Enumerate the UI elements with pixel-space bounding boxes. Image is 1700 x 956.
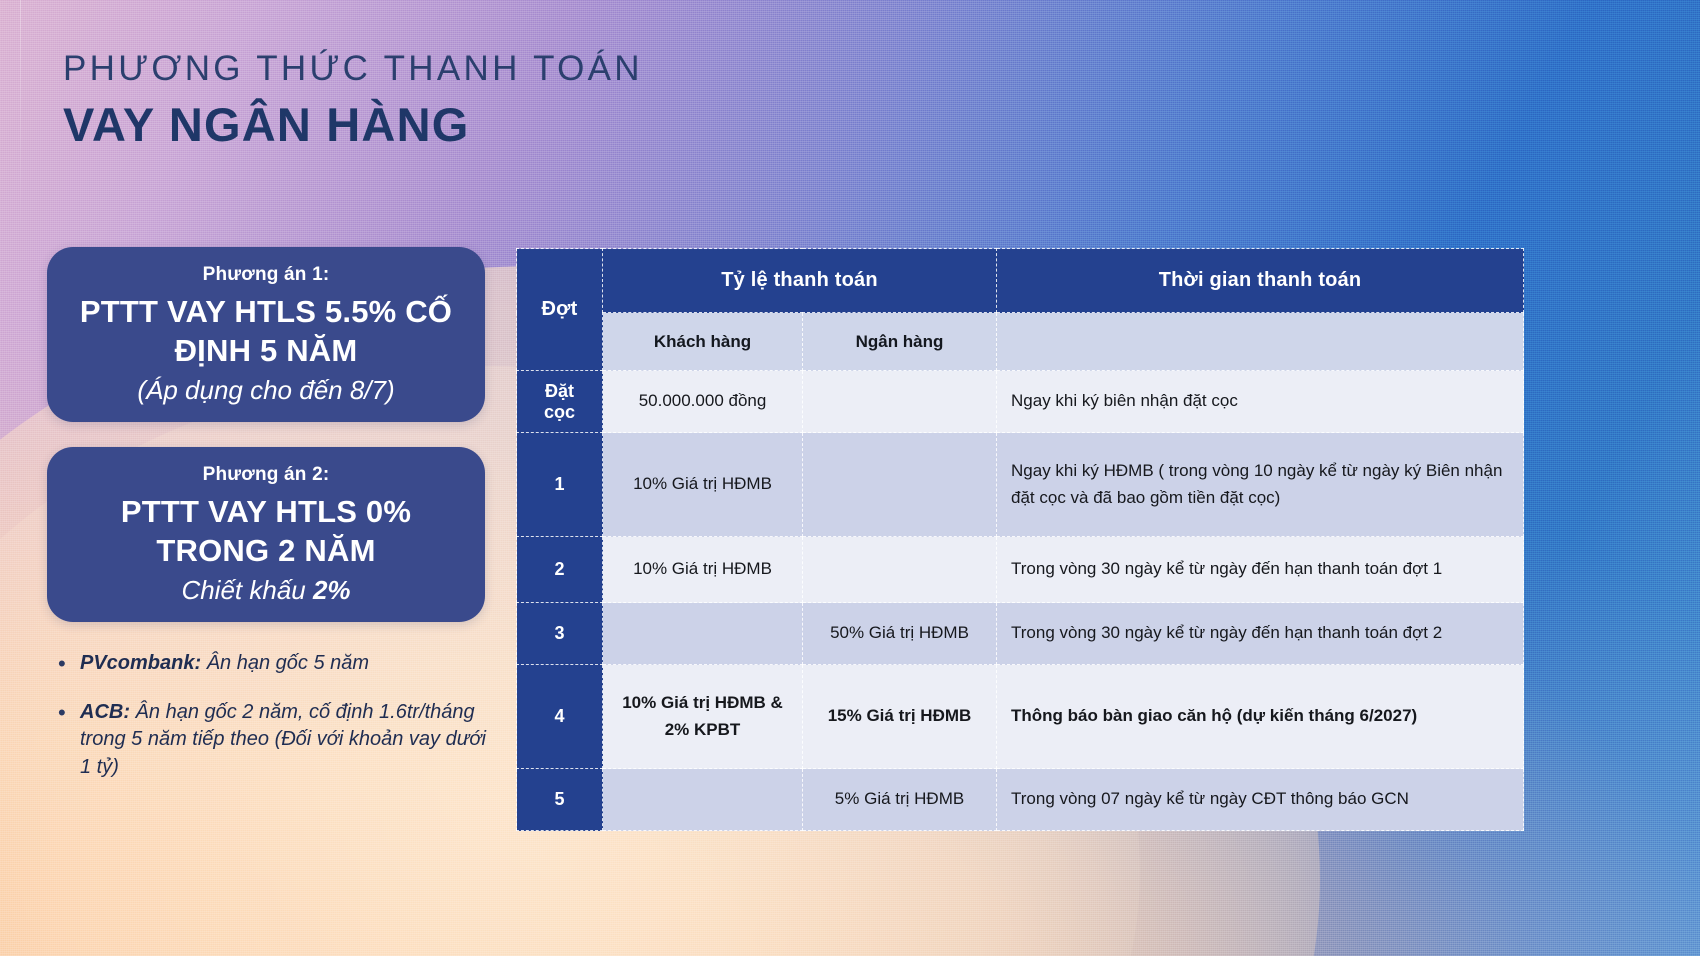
- bullet-dot-icon: •: [58, 699, 80, 728]
- row-customer: 50.000.000 đồng: [603, 371, 803, 433]
- row-bank: [803, 537, 997, 603]
- header-ratio: Tỷ lệ thanh toán: [603, 249, 997, 313]
- header-time: Thời gian thanh toán: [997, 249, 1524, 313]
- row-customer: [603, 603, 803, 665]
- row-customer: 10% Giá trị HĐMB: [603, 433, 803, 537]
- bullet-text: PVcombank: Ân hạn gốc 5 năm: [80, 650, 369, 678]
- row-bank: 50% Giá trị HĐMB: [803, 603, 997, 665]
- payment-schedule-table: Đợt Tỷ lệ thanh toán Thời gian thanh toá…: [516, 248, 1524, 831]
- row-time: Ngay khi ký biên nhận đặt cọc: [997, 371, 1524, 433]
- row-stage: 5: [517, 769, 603, 831]
- row-time: Trong vòng 30 ngày kể từ ngày đến hạn th…: [997, 603, 1524, 665]
- row-bank: 5% Giá trị HĐMB: [803, 769, 997, 831]
- row-customer: 10% Giá trị HĐMB: [603, 537, 803, 603]
- row-bank: [803, 371, 997, 433]
- table-row: Đặt cọc 50.000.000 đồng Ngay khi ký biên…: [517, 371, 1524, 433]
- table-subheader-row: Khách hàng Ngân hàng: [517, 313, 1524, 371]
- row-stage: Đặt cọc: [517, 371, 603, 433]
- option-2-note: Chiết khấu 2%: [69, 574, 463, 608]
- option-1-note: (Áp dụng cho đến 8/7): [69, 374, 463, 408]
- page-kicker: PHƯƠNG THỨC THANH TOÁN: [63, 48, 643, 90]
- bank-notes-list: • PVcombank: Ân hạn gốc 5 năm • ACB: Ân …: [58, 650, 498, 801]
- header-stage: Đợt: [517, 249, 603, 371]
- list-item: • ACB: Ân hạn gốc 2 năm, cố định 1.6tr/t…: [58, 699, 498, 782]
- option-1-title: PTTT VAY HTLS 5.5% CỐ ĐỊNH 5 NĂM: [69, 292, 463, 370]
- row-stage: 2: [517, 537, 603, 603]
- option-1-note-text: (Áp dụng cho đến 8/7): [137, 375, 394, 405]
- row-stage: 3: [517, 603, 603, 665]
- list-item: • PVcombank: Ân hạn gốc 5 năm: [58, 650, 498, 679]
- row-bank: [803, 433, 997, 537]
- bullet-text: ACB: Ân hạn gốc 2 năm, cố định 1.6tr/thá…: [80, 699, 498, 782]
- row-customer: 10% Giá trị HĐMB & 2% KPBT: [603, 665, 803, 769]
- option-2-kicker: Phương án 2:: [69, 463, 463, 487]
- bullet-bank-name: PVcombank:: [80, 652, 201, 674]
- option-2-title: PTTT VAY HTLS 0% TRONG 2 NĂM: [69, 492, 463, 570]
- option-1-kicker: Phương án 1:: [69, 263, 463, 287]
- subheader-bank: Ngân hàng: [803, 313, 997, 371]
- row-stage: 1: [517, 433, 603, 537]
- table-row: 3 50% Giá trị HĐMB Trong vòng 30 ngày kể…: [517, 603, 1524, 665]
- subheader-customer: Khách hàng: [603, 313, 803, 371]
- table-row: 4 10% Giá trị HĐMB & 2% KPBT 15% Giá trị…: [517, 665, 1524, 769]
- row-bank: 15% Giá trị HĐMB: [803, 665, 997, 769]
- bullet-detail: Ân hạn gốc 2 năm, cố định 1.6tr/tháng tr…: [80, 701, 486, 778]
- table-row: 2 10% Giá trị HĐMB Trong vòng 30 ngày kể…: [517, 537, 1524, 603]
- bullet-bank-name: ACB:: [80, 701, 130, 723]
- row-customer: [603, 769, 803, 831]
- row-time: Thông báo bàn giao căn hộ (dự kiến tháng…: [997, 665, 1524, 769]
- row-time: Trong vòng 30 ngày kể từ ngày đến hạn th…: [997, 537, 1524, 603]
- subheader-time-blank: [997, 313, 1524, 371]
- bullet-dot-icon: •: [58, 650, 80, 679]
- table-row: 5 5% Giá trị HĐMB Trong vòng 07 ngày kể …: [517, 769, 1524, 831]
- row-time: Trong vòng 07 ngày kể từ ngày CĐT thông …: [997, 769, 1524, 831]
- option-card-1: Phương án 1: PTTT VAY HTLS 5.5% CỐ ĐỊNH …: [47, 247, 485, 422]
- bullet-detail: Ân hạn gốc 5 năm: [201, 652, 369, 674]
- row-stage: 4: [517, 665, 603, 769]
- option-card-2: Phương án 2: PTTT VAY HTLS 0% TRONG 2 NĂ…: [47, 447, 485, 622]
- option-2-note-text: Chiết khấu: [181, 575, 313, 605]
- table-row: 1 10% Giá trị HĐMB Ngay khi ký HĐMB ( tr…: [517, 433, 1524, 537]
- page-title: VAY NGÂN HÀNG: [63, 98, 643, 153]
- page-title-group: PHƯƠNG THỨC THANH TOÁN VAY NGÂN HÀNG: [63, 48, 643, 153]
- option-2-note-bold: 2%: [313, 575, 351, 605]
- row-time: Ngay khi ký HĐMB ( trong vòng 10 ngày kể…: [997, 433, 1524, 537]
- table-header-row: Đợt Tỷ lệ thanh toán Thời gian thanh toá…: [517, 249, 1524, 313]
